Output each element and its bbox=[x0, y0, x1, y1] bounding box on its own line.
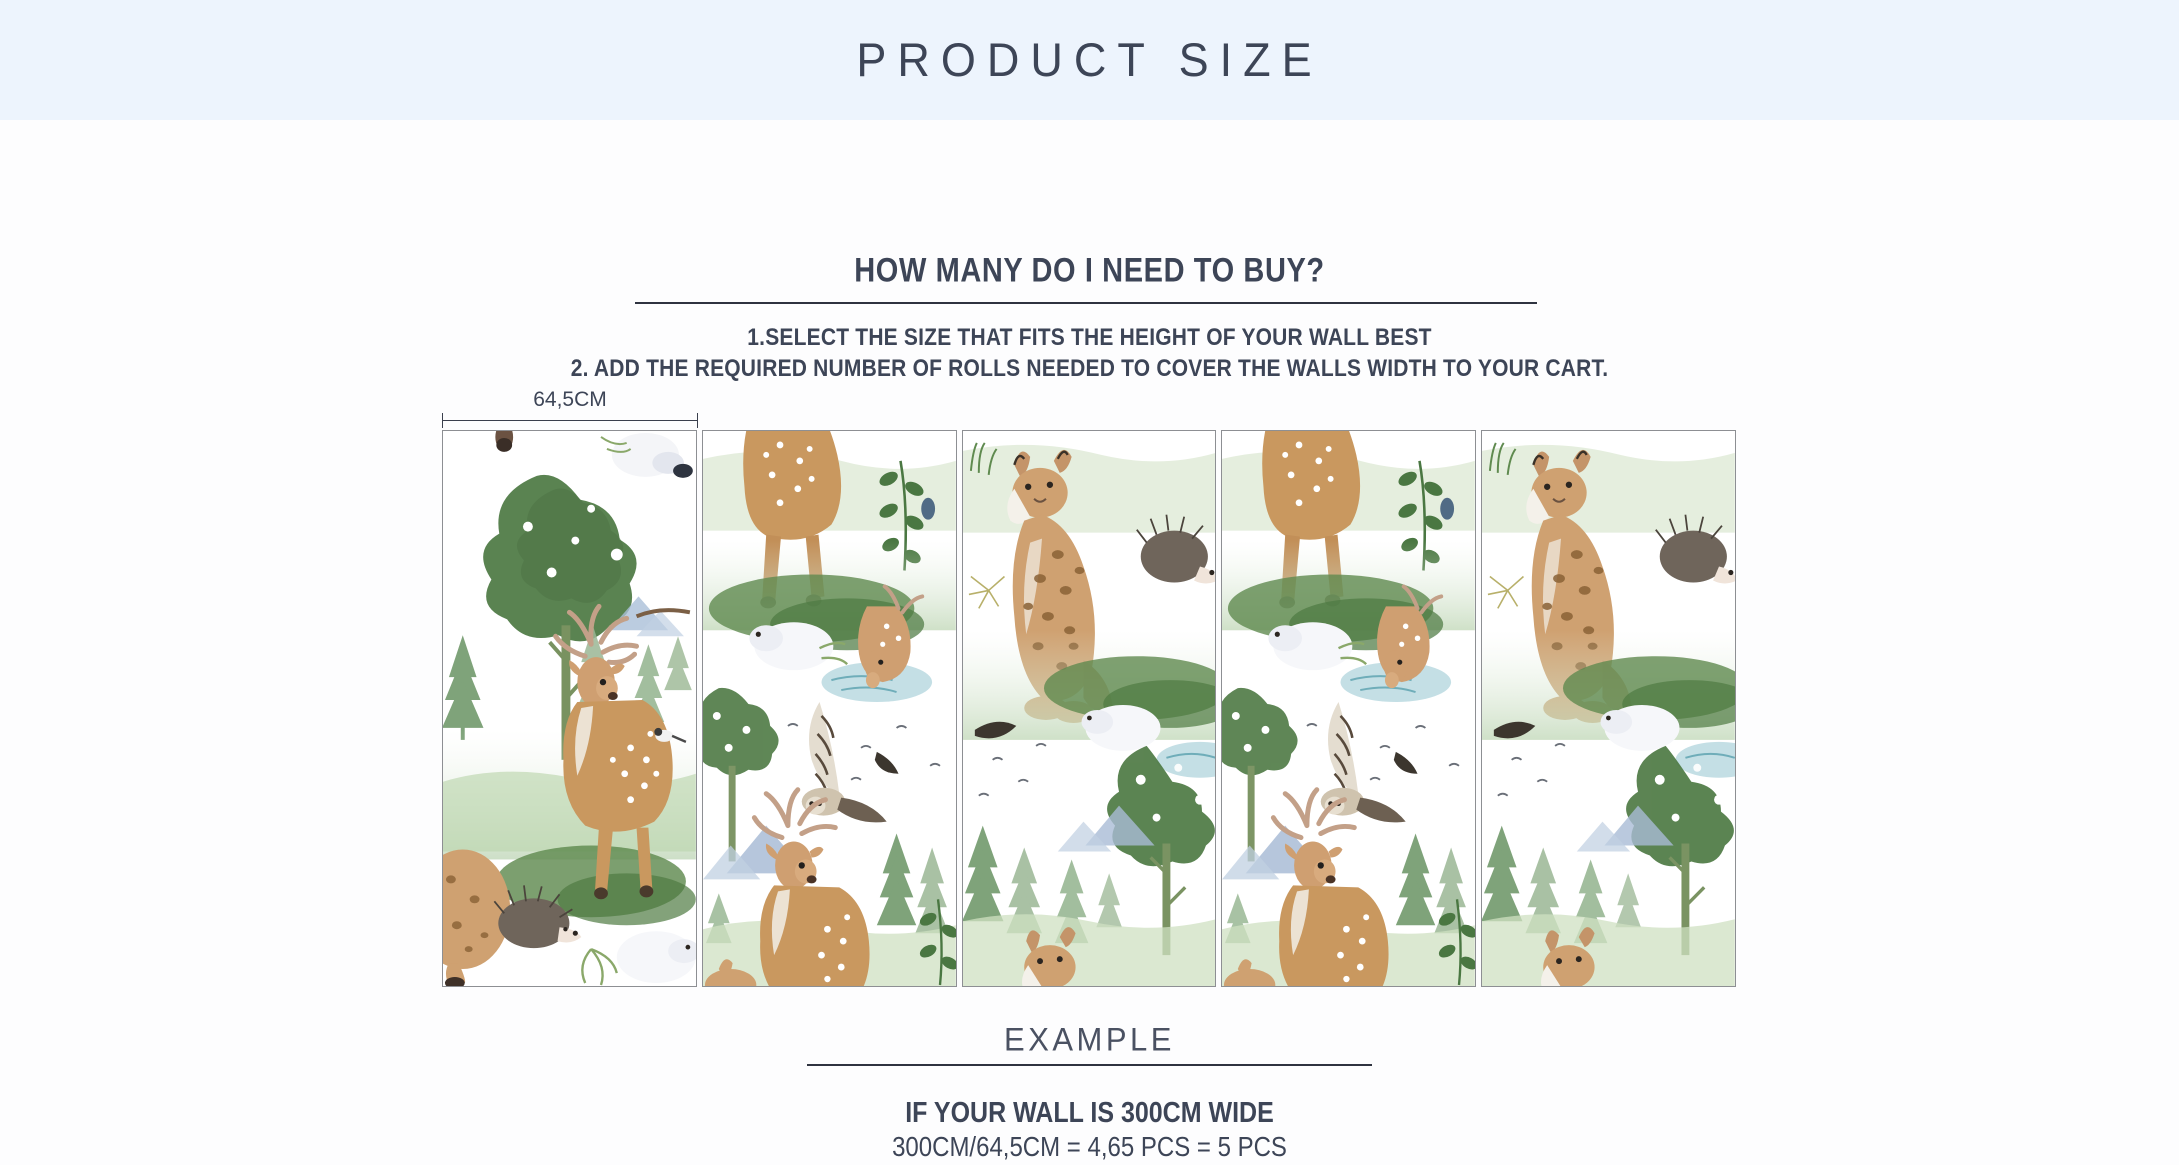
wallpaper-panel[interactable] bbox=[1481, 430, 1736, 987]
dimension-line bbox=[442, 420, 698, 421]
main-content: HOW MANY DO I NEED TO BUY? 1.SELECT THE … bbox=[0, 120, 2179, 1165]
page-banner: PRODUCT SIZE bbox=[0, 0, 2179, 120]
wallpaper-panel[interactable] bbox=[1221, 430, 1476, 987]
wallpaper-panel[interactable] bbox=[702, 430, 957, 987]
example-divider bbox=[807, 1064, 1372, 1066]
how-many-heading: HOW MANY DO I NEED TO BUY? bbox=[0, 252, 2179, 291]
wallpaper-panel[interactable] bbox=[962, 430, 1217, 987]
example-calculation: 300CM/64,5CM = 4,65 PCS = 5 PCS bbox=[0, 1132, 2179, 1164]
example-heading: EXAMPLE bbox=[0, 1021, 2179, 1059]
wallpaper-panel-strip bbox=[442, 430, 1736, 987]
example-wall-width: IF YOUR WALL IS 300CM WIDE bbox=[0, 1097, 2179, 1130]
instruction-step-1: 1.SELECT THE SIZE THAT FITS THE HEIGHT O… bbox=[0, 324, 2179, 352]
wallpaper-panel[interactable] bbox=[442, 430, 697, 987]
heading-divider bbox=[635, 302, 1537, 304]
roll-width-label: 64,5CM bbox=[442, 388, 698, 412]
instruction-step-2: 2. ADD THE REQUIRED NUMBER OF ROLLS NEED… bbox=[0, 355, 2179, 383]
page-title: PRODUCT SIZE bbox=[856, 32, 1322, 87]
